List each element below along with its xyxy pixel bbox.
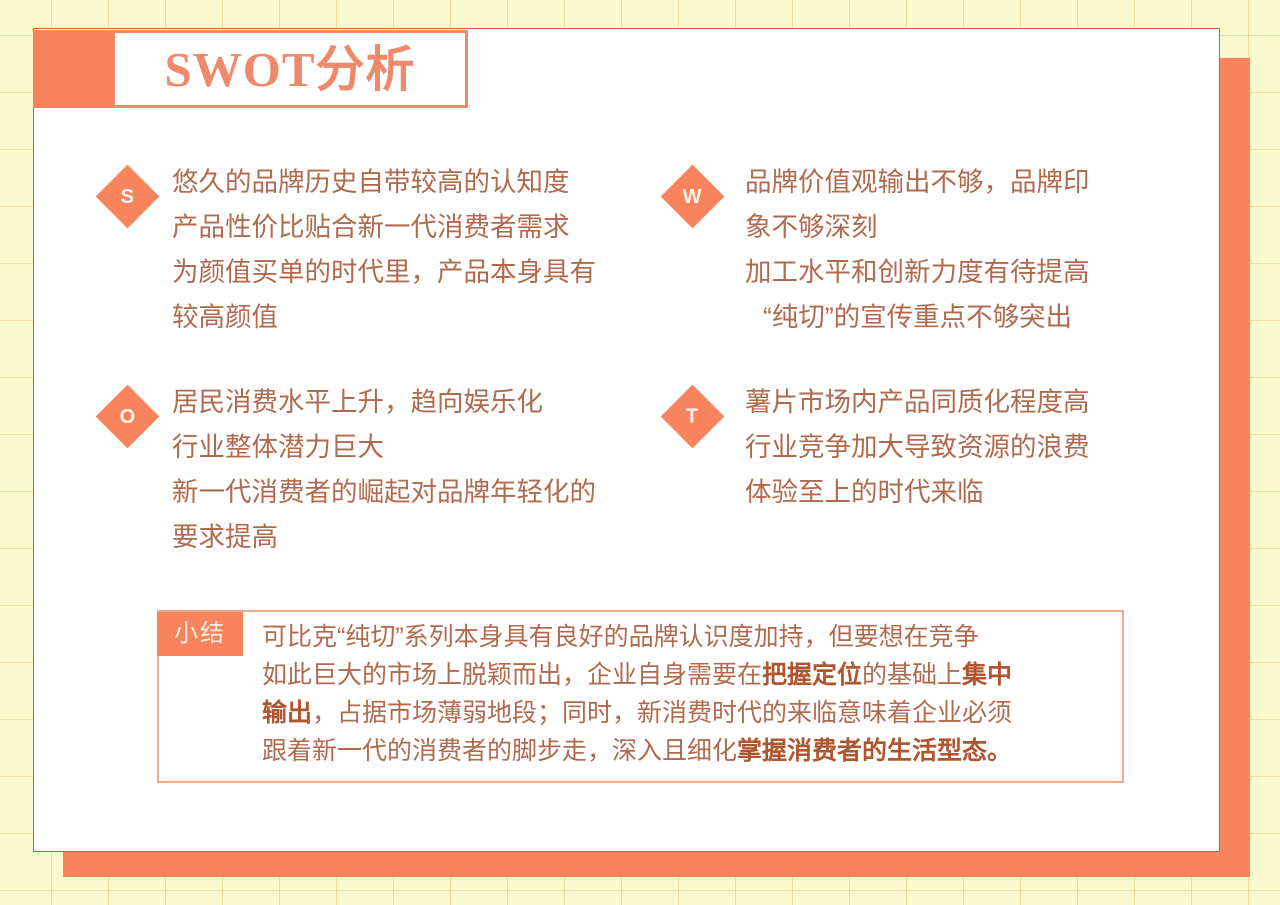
title-box: SWOT分析	[112, 30, 468, 108]
quadrant-line: 较高颜值	[172, 295, 596, 340]
diamond-badge-s: S	[96, 165, 160, 229]
diamond-letter-w: W	[683, 186, 702, 206]
quadrant-line: 品牌价值观输出不够，品牌印	[745, 160, 1090, 205]
quadrant-opportunities: O 居民消费水平上升，趋向娱乐化 行业整体潜力巨大 新一代消费者的崛起对品牌年轻…	[105, 380, 596, 560]
quadrant-weaknesses: W 品牌价值观输出不够，品牌印 象不够深刻 加工水平和创新力度有待提高 “纯切”…	[670, 160, 1090, 340]
quadrant-line: 新一代消费者的崛起对品牌年轻化的	[172, 470, 596, 515]
quadrant-line: 加工水平和创新力度有待提高	[745, 250, 1090, 295]
quadrant-threats: T 薯片市场内产品同质化程度高 行业竞争加大导致资源的浪费 体验至上的时代来临	[670, 380, 1090, 515]
summary-line: 跟着新一代的消费者的脚步走，深入且细化掌握消费者的生活型态。	[262, 732, 1124, 770]
summary-emphasis: 掌握消费者的生活型态。	[737, 737, 1012, 765]
diamond-badge-w: W	[661, 165, 725, 229]
quadrant-line: 居民消费水平上升，趋向娱乐化	[172, 380, 596, 425]
summary-emphasis: 把握定位	[762, 661, 862, 689]
summary-run: 的基础上	[862, 661, 962, 689]
summary-text: 可比克“纯切”系列本身具有良好的品牌认识度加持，但要想在竞争如此巨大的市场上脱颖…	[262, 618, 1124, 770]
quadrant-line: 为颜值买单的时代里，产品本身具有	[172, 250, 596, 295]
quadrant-threats-text: 薯片市场内产品同质化程度高 行业竞争加大导致资源的浪费 体验至上的时代来临	[745, 380, 1090, 515]
diamond-badge-t: T	[661, 385, 725, 449]
quadrant-line: “纯切”的宣传重点不够突出	[745, 295, 1090, 340]
quadrant-line: 象不够深刻	[745, 205, 1090, 250]
summary-run: 跟着新一代的消费者的脚步走，深入且细化	[262, 737, 737, 765]
diamond-letter-o: O	[120, 407, 136, 427]
quadrant-weaknesses-text: 品牌价值观输出不够，品牌印 象不够深刻 加工水平和创新力度有待提高 “纯切”的宣…	[745, 160, 1090, 340]
summary-run: 可比克“纯切”系列本身具有良好的品牌认识度加持，但要想在竞争	[262, 623, 979, 651]
summary-line: 输出，占据市场薄弱地段；同时，新消费时代的来临意味着企业必须	[262, 694, 1124, 732]
summary-emphasis: 输出	[262, 699, 312, 727]
page-title: SWOT分析	[164, 45, 415, 94]
summary-badge-label: 小结	[174, 622, 226, 646]
diamond-badge-o: O	[96, 385, 160, 449]
slide-title-banner: SWOT分析	[33, 30, 468, 108]
summary-run: 如此巨大的市场上脱颖而出，企业自身需要在	[262, 661, 762, 689]
summary-line: 如此巨大的市场上脱颖而出，企业自身需要在把握定位的基础上集中	[262, 656, 1124, 694]
quadrant-line: 体验至上的时代来临	[745, 470, 1090, 515]
title-accent-block	[33, 30, 112, 108]
quadrant-line: 薯片市场内产品同质化程度高	[745, 380, 1090, 425]
summary-line: 可比克“纯切”系列本身具有良好的品牌认识度加持，但要想在竞争	[262, 618, 1124, 656]
quadrant-strengths: S 悠久的品牌历史自带较高的认知度 产品性价比贴合新一代消费者需求 为颜值买单的…	[105, 160, 596, 340]
summary-run: ，占据市场薄弱地段；同时，新消费时代的来临意味着企业必须	[312, 699, 1012, 727]
diamond-letter-s: S	[121, 187, 134, 207]
summary-emphasis: 集中	[962, 661, 1012, 689]
quadrant-line: 要求提高	[172, 515, 596, 560]
quadrant-line: 行业整体潜力巨大	[172, 425, 596, 470]
quadrant-opportunities-text: 居民消费水平上升，趋向娱乐化 行业整体潜力巨大 新一代消费者的崛起对品牌年轻化的…	[172, 380, 596, 560]
summary-badge: 小结	[157, 612, 243, 656]
quadrant-line: 行业竞争加大导致资源的浪费	[745, 425, 1090, 470]
diamond-letter-t: T	[686, 407, 698, 427]
quadrant-strengths-text: 悠久的品牌历史自带较高的认知度 产品性价比贴合新一代消费者需求 为颜值买单的时代…	[172, 160, 596, 340]
quadrant-line: 悠久的品牌历史自带较高的认知度	[172, 160, 596, 205]
quadrant-line: 产品性价比贴合新一代消费者需求	[172, 205, 596, 250]
